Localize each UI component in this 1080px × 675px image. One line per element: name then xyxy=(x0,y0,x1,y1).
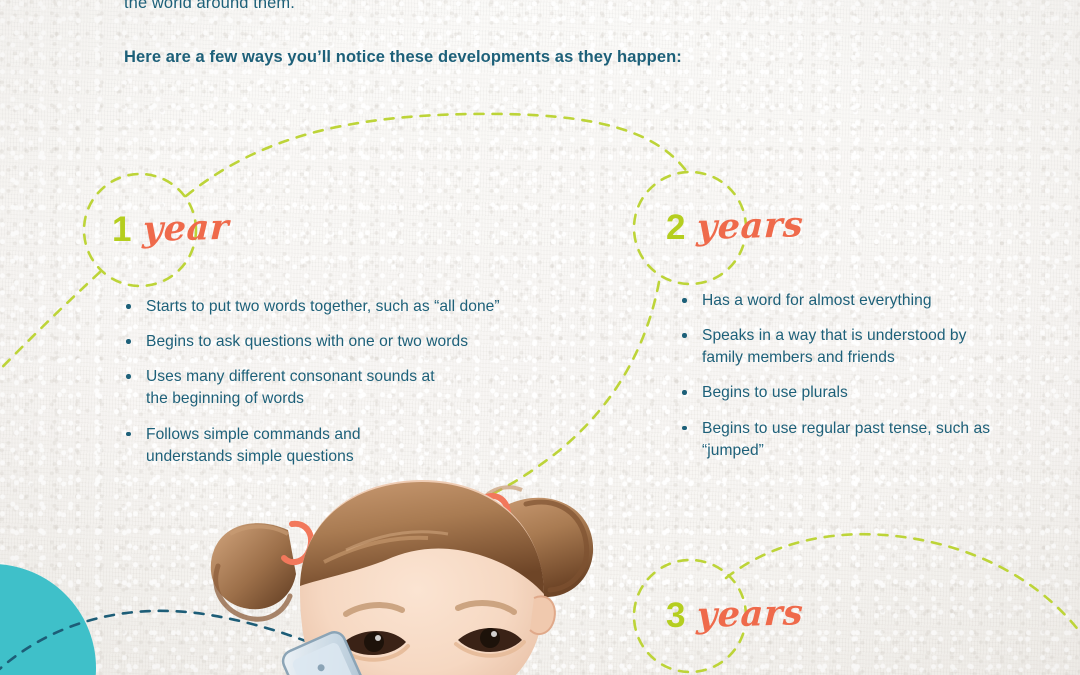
stage-number: 2 xyxy=(666,210,685,245)
stage-unit-label: years xyxy=(696,595,804,633)
stage-heading-2-years: 2 years xyxy=(666,210,802,245)
stage-unit-label: years xyxy=(696,207,804,245)
list-item: Has a word for almost everything xyxy=(676,290,1006,312)
hair-pigtail-left xyxy=(211,523,311,619)
stage-heading-3-years: 3 years xyxy=(666,598,802,633)
bullet-list-stage-2: Has a word for almost everything Speaks … xyxy=(676,290,1006,475)
bullet-list-stage-1: Starts to put two words together, such a… xyxy=(120,296,600,481)
stage-number: 3 xyxy=(666,598,685,633)
list-item: Speaks in a way that is understood by fa… xyxy=(676,325,992,369)
list-item: Starts to put two words together, such a… xyxy=(120,296,600,318)
stage-unit-label: year xyxy=(142,210,230,247)
green-dashed-arc-top xyxy=(186,114,690,196)
stage-heading-1-year: 1 year xyxy=(112,212,228,247)
list-item: Follows simple commands and understands … xyxy=(120,424,431,468)
list-item: Uses many different consonant sounds at … xyxy=(120,366,446,410)
intro-text-block: the world around them. Here are a few wa… xyxy=(124,0,924,70)
list-item: Begins to use plurals xyxy=(676,382,1006,404)
list-item: Begins to ask questions with one or two … xyxy=(120,331,600,353)
stage-number: 1 xyxy=(112,212,131,247)
photo-illustration xyxy=(196,462,620,675)
green-dashed-tail-left xyxy=(0,272,100,390)
intro-tail-line: the world around them. xyxy=(124,0,924,16)
infographic-canvas: the world around them. Here are a few wa… xyxy=(0,0,1080,675)
intro-lead-line: Here are a few ways you’ll notice these … xyxy=(124,46,924,70)
photo-toddler-girl xyxy=(196,462,620,675)
list-item: Begins to use regular past tense, such a… xyxy=(676,418,1002,462)
ear-right xyxy=(530,596,555,634)
teal-circle-decoration xyxy=(0,564,96,675)
